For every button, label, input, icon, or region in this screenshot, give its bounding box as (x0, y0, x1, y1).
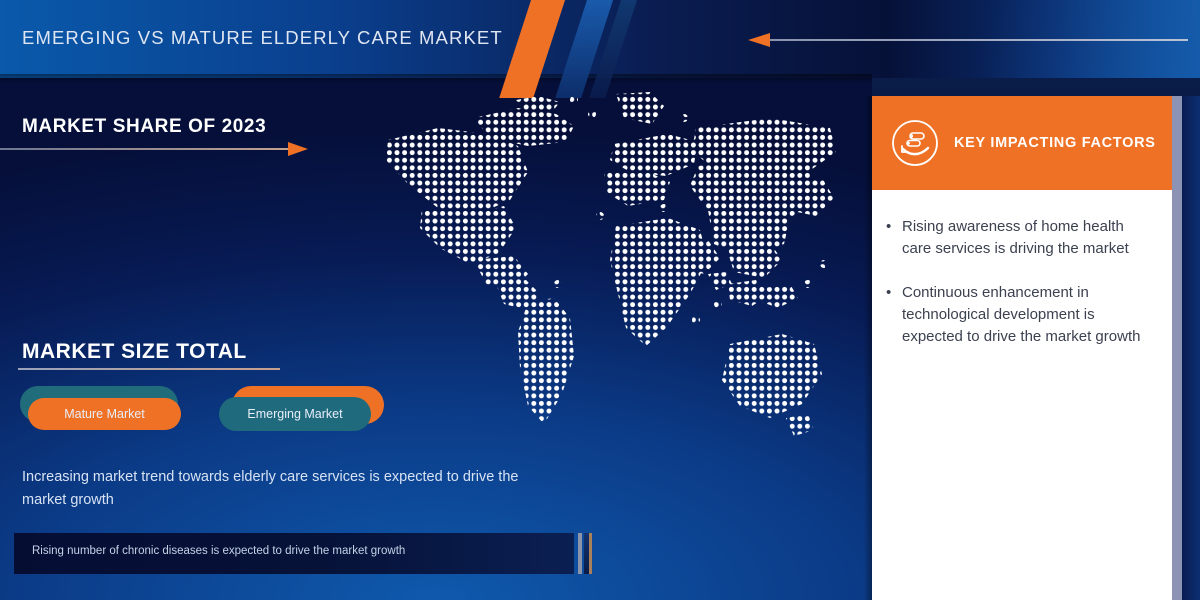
infographic-slide: EMERGING VS MATURE ELDERLY CARE MARKET M… (0, 0, 1200, 600)
header-shadow (0, 74, 872, 84)
market-size-description: Increasing market trend towards elderly … (22, 466, 562, 512)
list-item: • Rising awareness of home health care s… (886, 216, 1156, 260)
arrow-left-icon (748, 33, 770, 47)
bottom-banner-text: Rising number of chronic diseases is exp… (32, 545, 532, 557)
panel-right-edge-band (1172, 96, 1182, 600)
market-share-arrow-right (0, 142, 310, 156)
bullet-marker: • (886, 216, 902, 260)
market-legend: Emerging Market Mature Market (0, 386, 420, 440)
bullet-marker: • (886, 282, 902, 348)
legend-label-mature: Mature Market (64, 407, 145, 421)
banner-accent-bar-orange (589, 533, 592, 574)
legend-item-mature[interactable]: Mature Market (28, 398, 181, 430)
list-item: • Continuous enhancement in technologica… (886, 282, 1156, 348)
panel-header: KEY IMPACTING FACTORS (872, 96, 1200, 190)
banner-accent-bar-gray (578, 533, 582, 574)
list-item-text: Rising awareness of home health care ser… (902, 216, 1156, 260)
list-item-text: Continuous enhancement in technological … (902, 282, 1156, 348)
market-share-arrow-line (0, 148, 292, 150)
legend-item-emerging[interactable]: Emerging Market (219, 397, 371, 431)
panel-right-outer-band (1182, 96, 1200, 600)
market-size-title: MARKET SIZE TOTAL (22, 340, 247, 364)
market-size-underline (18, 368, 280, 370)
dotted-world-map (378, 88, 838, 508)
panel-shadow (864, 96, 872, 600)
header-arrow-left (748, 33, 1188, 47)
header-arrow-line (770, 39, 1188, 41)
panel-bullet-list: • Rising awareness of home health care s… (872, 190, 1172, 370)
panel-title: KEY IMPACTING FACTORS (954, 135, 1156, 151)
market-share-title: MARKET SHARE OF 2023 (22, 116, 266, 138)
page-title: EMERGING VS MATURE ELDERLY CARE MARKET (22, 27, 503, 49)
key-impacting-factors-panel: KEY IMPACTING FACTORS • Rising awareness… (872, 96, 1200, 600)
arrow-right-icon (288, 142, 308, 156)
hand-holding-money-icon (890, 118, 940, 168)
legend-label-emerging: Emerging Market (247, 407, 342, 421)
